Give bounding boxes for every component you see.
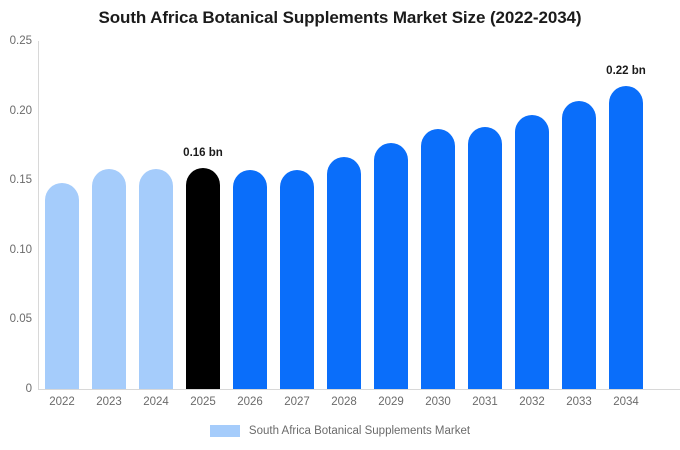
bar-rect-2027[interactable] (280, 170, 314, 389)
x-axis-tick-label-2030: 2030 (421, 396, 455, 408)
y-axis-tick-label: 0.20 (0, 105, 32, 117)
bar-value-label-2025: 0.16 bn (183, 147, 223, 159)
bar-2034[interactable]: 0.22 bn (609, 41, 643, 389)
bar-rect-2029[interactable] (374, 143, 408, 389)
bar-rect-2026[interactable] (233, 170, 267, 389)
bar-rect-2032[interactable] (515, 115, 549, 389)
plot-area: 0.16 bn0.22 bn (38, 41, 680, 389)
bar-chart: South Africa Botanical Supplements Marke… (0, 0, 680, 450)
bar-value-label-2034: 0.22 bn (606, 65, 646, 77)
bar-rect-2023[interactable] (92, 169, 126, 389)
bar-rect-2022[interactable] (45, 183, 79, 389)
bar-2028[interactable] (327, 41, 361, 389)
x-axis-tick-label-2031: 2031 (468, 396, 502, 408)
x-axis-tick-label-2034: 2034 (609, 396, 643, 408)
x-axis-tick-label-2026: 2026 (233, 396, 267, 408)
y-axis-tick-label: 0 (0, 383, 32, 395)
x-axis-tick-label-2023: 2023 (92, 396, 126, 408)
bar-2033[interactable] (562, 41, 596, 389)
x-axis-tick-label-2029: 2029 (374, 396, 408, 408)
bar-2025[interactable]: 0.16 bn (186, 41, 220, 389)
legend-swatch-market (210, 425, 240, 437)
legend-label-market: South Africa Botanical Supplements Marke… (249, 425, 470, 437)
y-axis-tick-label: 0.05 (0, 313, 32, 325)
bar-rect-2034[interactable] (609, 86, 643, 389)
x-axis-tick-label-2028: 2028 (327, 396, 361, 408)
y-axis-tick-label: 0.25 (0, 35, 32, 47)
x-axis-tick-label-2032: 2032 (515, 396, 549, 408)
bar-2029[interactable] (374, 41, 408, 389)
bar-2022[interactable] (45, 41, 79, 389)
x-axis-tick-label-2025: 2025 (186, 396, 220, 408)
bar-rect-2028[interactable] (327, 157, 361, 389)
y-axis-tick-label: 0.15 (0, 174, 32, 186)
bar-rect-2033[interactable] (562, 101, 596, 389)
bar-2023[interactable] (92, 41, 126, 389)
x-axis-tick-label-2022: 2022 (45, 396, 79, 408)
x-axis-tick-label-2024: 2024 (139, 396, 173, 408)
bar-rect-2031[interactable] (468, 127, 502, 389)
bar-2024[interactable] (139, 41, 173, 389)
bar-rect-2025[interactable] (186, 168, 220, 389)
chart-legend: South Africa Botanical Supplements Marke… (0, 425, 680, 437)
bar-rect-2030[interactable] (421, 129, 455, 389)
y-axis-tick-label: 0.10 (0, 244, 32, 256)
bar-2031[interactable] (468, 41, 502, 389)
bar-rect-2024[interactable] (139, 169, 173, 389)
bar-2026[interactable] (233, 41, 267, 389)
bar-2030[interactable] (421, 41, 455, 389)
x-axis-tick-label-2027: 2027 (280, 396, 314, 408)
bar-2027[interactable] (280, 41, 314, 389)
bar-2032[interactable] (515, 41, 549, 389)
x-axis-tick-label-2033: 2033 (562, 396, 596, 408)
